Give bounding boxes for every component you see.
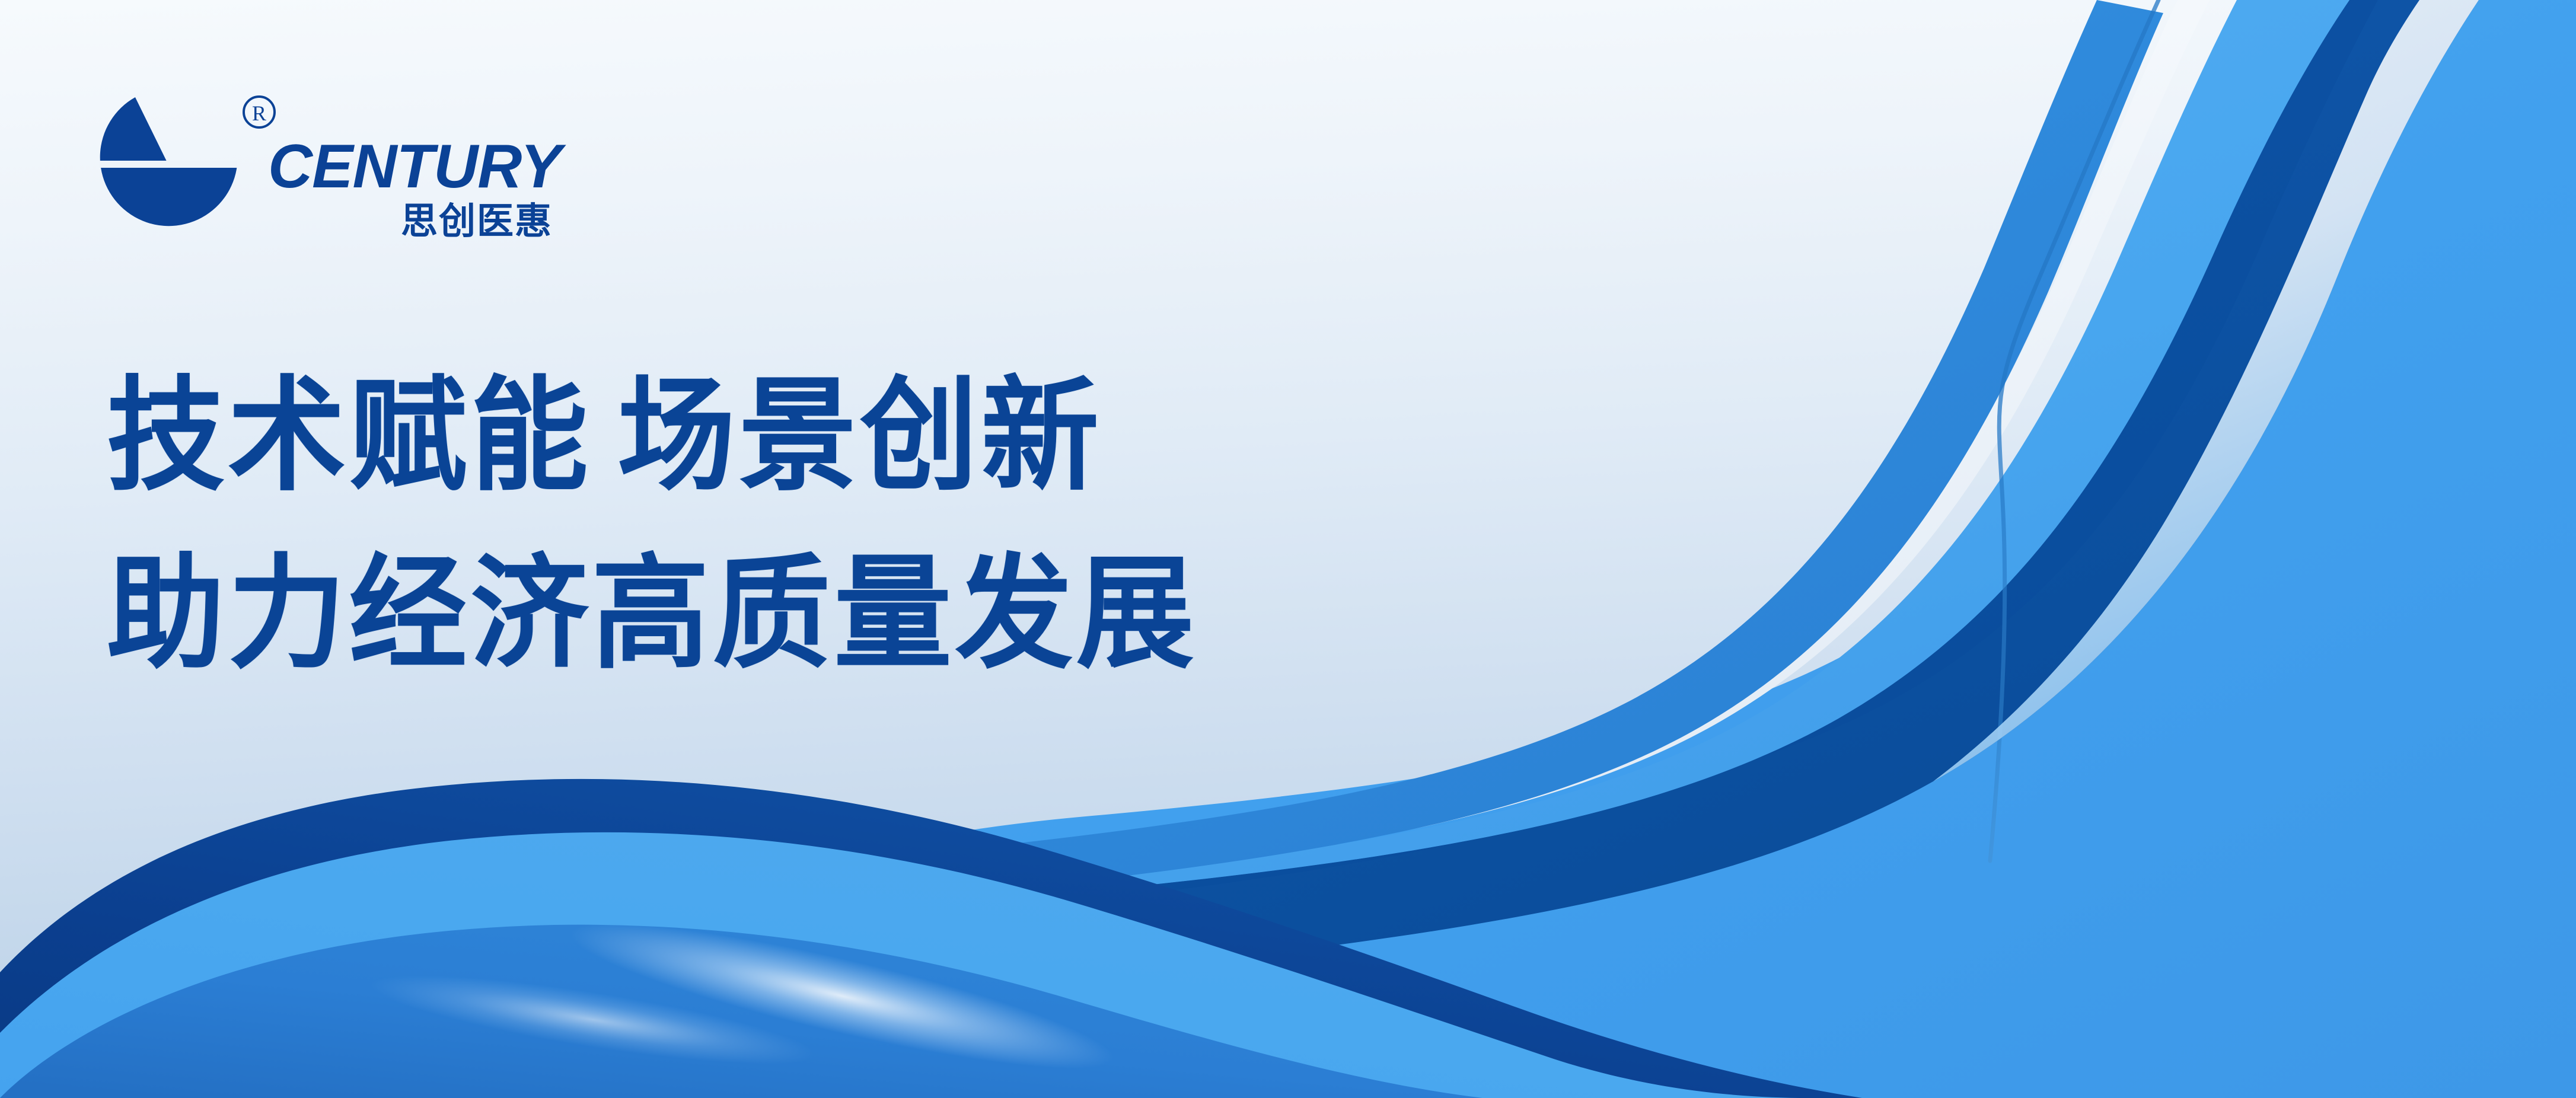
arc-rim-highlight [1933, 0, 2479, 781]
page-title: 技术赋能场景创新 助力经济高质量发展 [107, 347, 1197, 703]
headline-line-1: 技术赋能场景创新 [107, 347, 1197, 525]
company-logo: R CENTURY 思创医惠 [100, 89, 621, 249]
century-wordmark-text: CENTURY [268, 135, 566, 200]
registered-trademark-icon: R [241, 94, 278, 130]
headline-line-2: 助力经济高质量发展 [107, 525, 1197, 703]
century-wordmark: CENTURY [268, 135, 624, 200]
promotional-banner: R CENTURY 思创医惠 技术赋能场景创新 助力经济高质量发展 [0, 0, 2576, 1098]
wave-medium [0, 925, 1483, 1098]
century-c-mark-icon [100, 96, 237, 234]
headline-line1-part2: 场景创新 [617, 365, 1102, 508]
wave-bright [0, 832, 1809, 1098]
company-chinese-name: 思创医惠 [401, 203, 553, 240]
wave-navy [0, 779, 1862, 1098]
wave-gloss-highlight [366, 898, 1121, 1094]
headline-line1-part1: 技术赋能 [107, 365, 591, 508]
svg-text:R: R [252, 101, 266, 125]
hairline-arc [1990, 0, 2159, 861]
